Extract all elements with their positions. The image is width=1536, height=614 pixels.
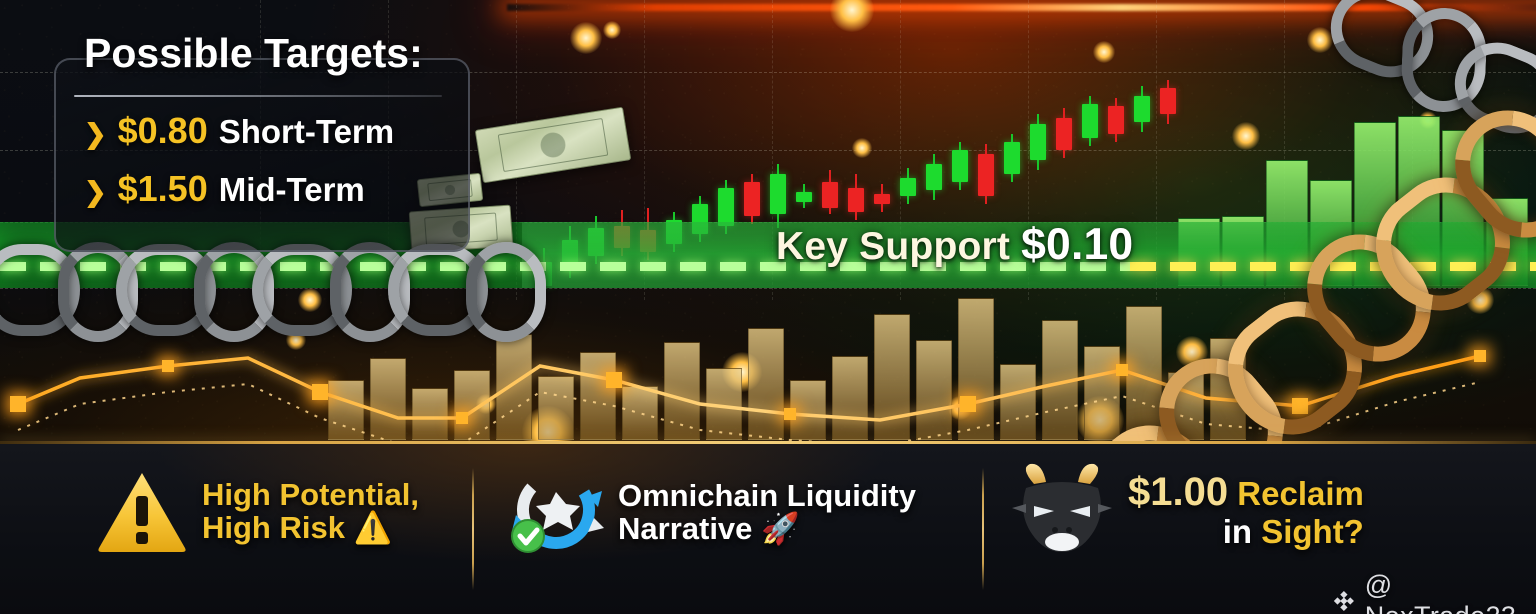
bottom-item-reclaim[interactable]: $1.00 Reclaim in Sight? bbox=[1010, 462, 1364, 558]
trend-node bbox=[312, 384, 328, 400]
risk-line-2: High Risk bbox=[202, 510, 345, 545]
page-title: Possible Targets: bbox=[84, 30, 423, 77]
target-row-1: ❯ $1.50 Mid-Term bbox=[84, 168, 365, 210]
chevron-right-icon: ❯ bbox=[84, 119, 107, 150]
target-label-0: Short-Term bbox=[219, 113, 394, 151]
trend-node bbox=[1474, 350, 1486, 362]
promo-graphic: Key Support $0.10 Possible Targets: ❯ $0… bbox=[0, 0, 1536, 614]
bull-head-icon bbox=[1010, 462, 1114, 558]
risk-line-1: High Potential, bbox=[202, 478, 419, 511]
narrative-line-1: Omnichain Liquidity bbox=[618, 479, 916, 512]
reclaim-price: $1.00 bbox=[1128, 470, 1228, 514]
warning-triangle-icon bbox=[96, 468, 188, 554]
trend-node bbox=[784, 408, 796, 420]
bottom-item-risk[interactable]: High Potential, High Risk ⚠️ bbox=[96, 468, 419, 554]
target-price-0: $0.80 bbox=[118, 110, 208, 152]
narrative-line-2: Narrative bbox=[618, 511, 752, 546]
trend-node bbox=[1116, 364, 1128, 376]
panel-divider bbox=[74, 95, 442, 97]
reclaim-line-2-pre: in bbox=[1223, 513, 1252, 550]
key-support-text: Key Support $0.10 bbox=[776, 220, 1133, 270]
trend-node bbox=[456, 412, 468, 424]
possible-targets-panel bbox=[54, 58, 470, 252]
rocket-emoji-icon: 🚀 bbox=[761, 511, 800, 546]
bottom-divider-2 bbox=[982, 468, 984, 590]
chain-link bbox=[466, 242, 546, 342]
key-support-label: Key Support bbox=[776, 225, 1010, 268]
binance-diamond-icon bbox=[1332, 588, 1356, 614]
chevron-right-icon: ❯ bbox=[84, 177, 107, 208]
reclaim-line-1: Reclaim bbox=[1237, 475, 1364, 512]
bottom-divider-1 bbox=[472, 468, 474, 590]
reclaim-line-2: Sight? bbox=[1261, 513, 1364, 550]
trend-node bbox=[606, 372, 622, 388]
trend-node bbox=[162, 360, 174, 372]
key-support-value: $0.10 bbox=[1021, 220, 1133, 269]
bottom-item-narrative[interactable]: Omnichain Liquidity Narrative 🚀 bbox=[508, 466, 916, 558]
warning-emoji-icon: ⚠️ bbox=[354, 510, 393, 545]
omnichain-sync-icon bbox=[508, 466, 604, 558]
watermark-handle: @ NexTrade23 bbox=[1365, 570, 1536, 614]
target-label-1: Mid-Term bbox=[219, 171, 365, 209]
trend-node bbox=[960, 396, 976, 412]
target-price-1: $1.50 bbox=[118, 168, 208, 210]
trend-node bbox=[10, 396, 26, 412]
watermark: @ NexTrade23 bbox=[1332, 570, 1536, 614]
target-row-0: ❯ $0.80 Short-Term bbox=[84, 110, 394, 152]
